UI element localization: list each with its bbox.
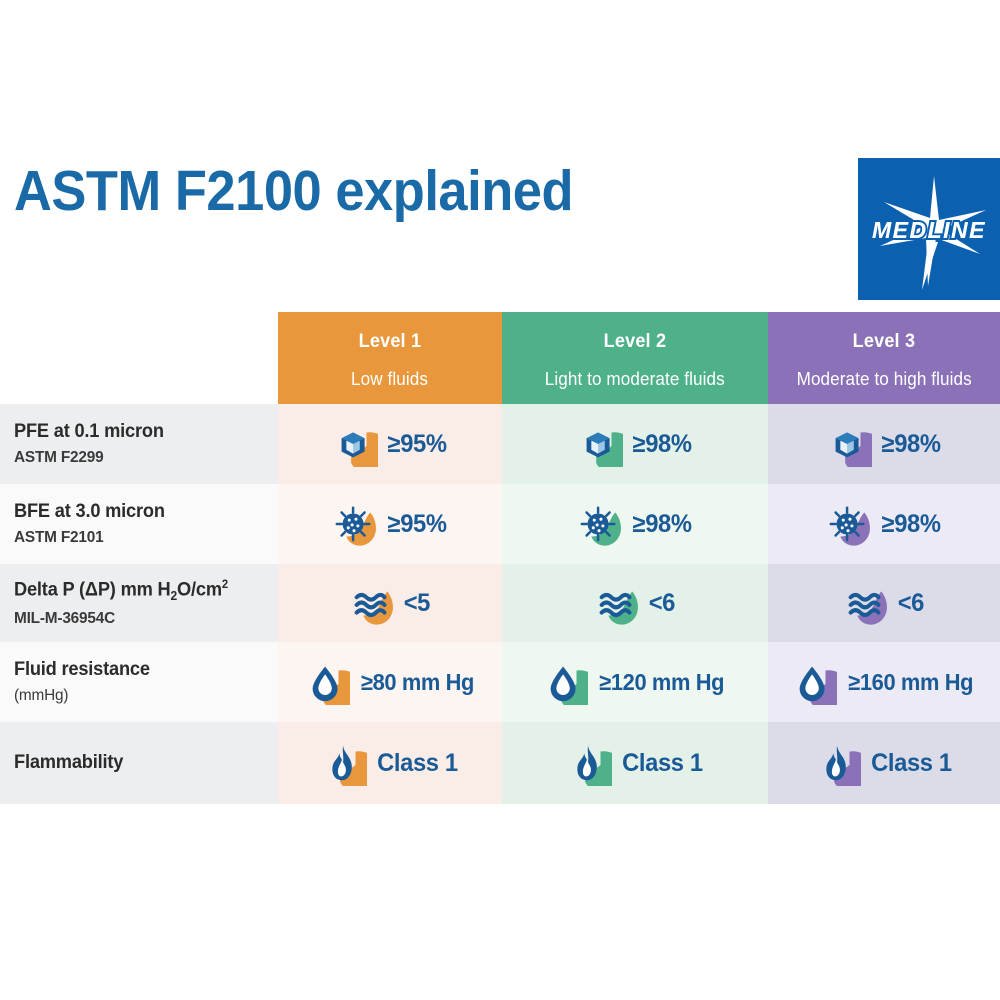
cell-flammability-level3-value: Class 1	[871, 749, 952, 778]
particle-hexagon-icon	[332, 421, 378, 467]
cell-bfe-level2-value: ≥98%	[632, 510, 691, 539]
cell-delta-p-level2-value: <6	[649, 589, 675, 618]
flame-icon	[566, 740, 612, 786]
cell-pfe-level1: ≥95%	[278, 404, 502, 484]
cell-fluid-resistance-level1-value: ≥80 mm Hg	[360, 669, 473, 696]
row-label-bfe-standard: ASTM F2101	[14, 529, 267, 547]
cell-flammability-level1-value: Class 1	[377, 749, 458, 778]
medline-wordmark: MEDLINE	[872, 217, 986, 243]
column-header-level1: Level 1 Low fluids	[278, 312, 502, 404]
row-label-flammability: Flammability	[0, 722, 278, 804]
bacteria-icon	[332, 501, 378, 547]
level3-name: Level 3	[853, 331, 916, 353]
row-label-pfe-standard: ASTM F2299	[14, 449, 267, 467]
level1-name: Level 1	[359, 331, 422, 353]
page-title: ASTM F2100 explained	[14, 160, 658, 223]
row-label-pfe-title: PFE at 0.1 micron	[14, 421, 267, 444]
water-droplet-icon	[791, 659, 837, 705]
cell-fluid-resistance-level2: ≥120 mm Hg	[502, 642, 768, 722]
cell-fluid-resistance-level1: ≥80 mm Hg	[278, 642, 502, 722]
column-header-level2: Level 2 Light to moderate fluids	[502, 312, 768, 404]
astm-comparison-table: Level 1 Low fluids Level 2 Light to mode…	[0, 312, 1000, 804]
cell-fluid-resistance-level3: ≥160 mm Hg	[768, 642, 1000, 722]
cell-pfe-level1-value: ≥95%	[387, 430, 446, 459]
cell-pfe-level3: ≥98%	[768, 404, 1000, 484]
row-label-bfe-title: BFE at 3.0 micron	[14, 501, 267, 524]
flame-icon	[321, 740, 367, 786]
flame-icon	[815, 740, 861, 786]
cell-flammability-level3: Class 1	[768, 722, 1000, 804]
cell-flammability-level1: Class 1	[278, 722, 502, 804]
cell-pfe-level2-value: ≥98%	[632, 430, 691, 459]
row-label-delta-p: Delta P (ΔP) mm H2O/cm2 MIL-M-36954C	[0, 564, 278, 642]
row-label-delta-p-title: Delta P (ΔP) mm H2O/cm2	[14, 578, 267, 604]
water-waves-icon	[594, 580, 640, 626]
cell-bfe-level3: ≥98%	[768, 484, 1000, 564]
level2-description: Light to moderate fluids	[545, 369, 725, 390]
cell-delta-p-level2: <6	[502, 564, 768, 642]
cell-delta-p-level1: <5	[278, 564, 502, 642]
cell-pfe-level3-value: ≥98%	[881, 430, 940, 459]
cell-flammability-level2-value: Class 1	[622, 749, 703, 778]
water-droplet-icon	[304, 659, 350, 705]
cell-bfe-level3-value: ≥98%	[881, 510, 940, 539]
cell-fluid-resistance-level2-value: ≥120 mm Hg	[600, 669, 725, 696]
level1-description: Low fluids	[351, 369, 428, 390]
level2-name: Level 2	[604, 331, 667, 353]
row-label-fluid-resistance-title: Fluid resistance	[14, 659, 267, 682]
cell-bfe-level1-value: ≥95%	[387, 510, 446, 539]
level3-description: Moderate to high fluids	[796, 369, 971, 390]
row-label-fluid-resistance-standard: (mmHg)	[14, 687, 267, 705]
bacteria-icon	[826, 501, 872, 547]
water-waves-icon	[349, 580, 395, 626]
cell-pfe-level2: ≥98%	[502, 404, 768, 484]
row-label-delta-p-standard: MIL-M-36954C	[14, 610, 267, 628]
cell-fluid-resistance-level3-value: ≥160 mm Hg	[849, 669, 974, 696]
cell-delta-p-level3-value: <6	[898, 589, 924, 618]
water-droplet-icon	[542, 659, 588, 705]
particle-hexagon-icon	[577, 421, 623, 467]
cell-flammability-level2: Class 1	[502, 722, 768, 804]
water-waves-icon	[843, 580, 889, 626]
table-corner-cell	[0, 312, 278, 404]
row-label-flammability-title: Flammability	[14, 752, 267, 775]
cell-bfe-level1: ≥95%	[278, 484, 502, 564]
bacteria-icon	[577, 501, 623, 547]
cell-delta-p-level1-value: <5	[404, 589, 430, 618]
row-label-pfe: PFE at 0.1 micron ASTM F2299	[0, 404, 278, 484]
infographic-page: ASTM F2100 explained MEDLINE MEDLINE Lev…	[0, 0, 1000, 1000]
row-label-fluid-resistance: Fluid resistance (mmHg)	[0, 642, 278, 722]
cell-bfe-level2: ≥98%	[502, 484, 768, 564]
table-grid: Level 1 Low fluids Level 2 Light to mode…	[0, 312, 1000, 804]
column-header-level3: Level 3 Moderate to high fluids	[768, 312, 1000, 404]
row-label-bfe: BFE at 3.0 micron ASTM F2101	[0, 484, 278, 564]
particle-hexagon-icon	[826, 421, 872, 467]
medline-logo: MEDLINE MEDLINE	[858, 158, 1000, 300]
cell-delta-p-level3: <6	[768, 564, 1000, 642]
